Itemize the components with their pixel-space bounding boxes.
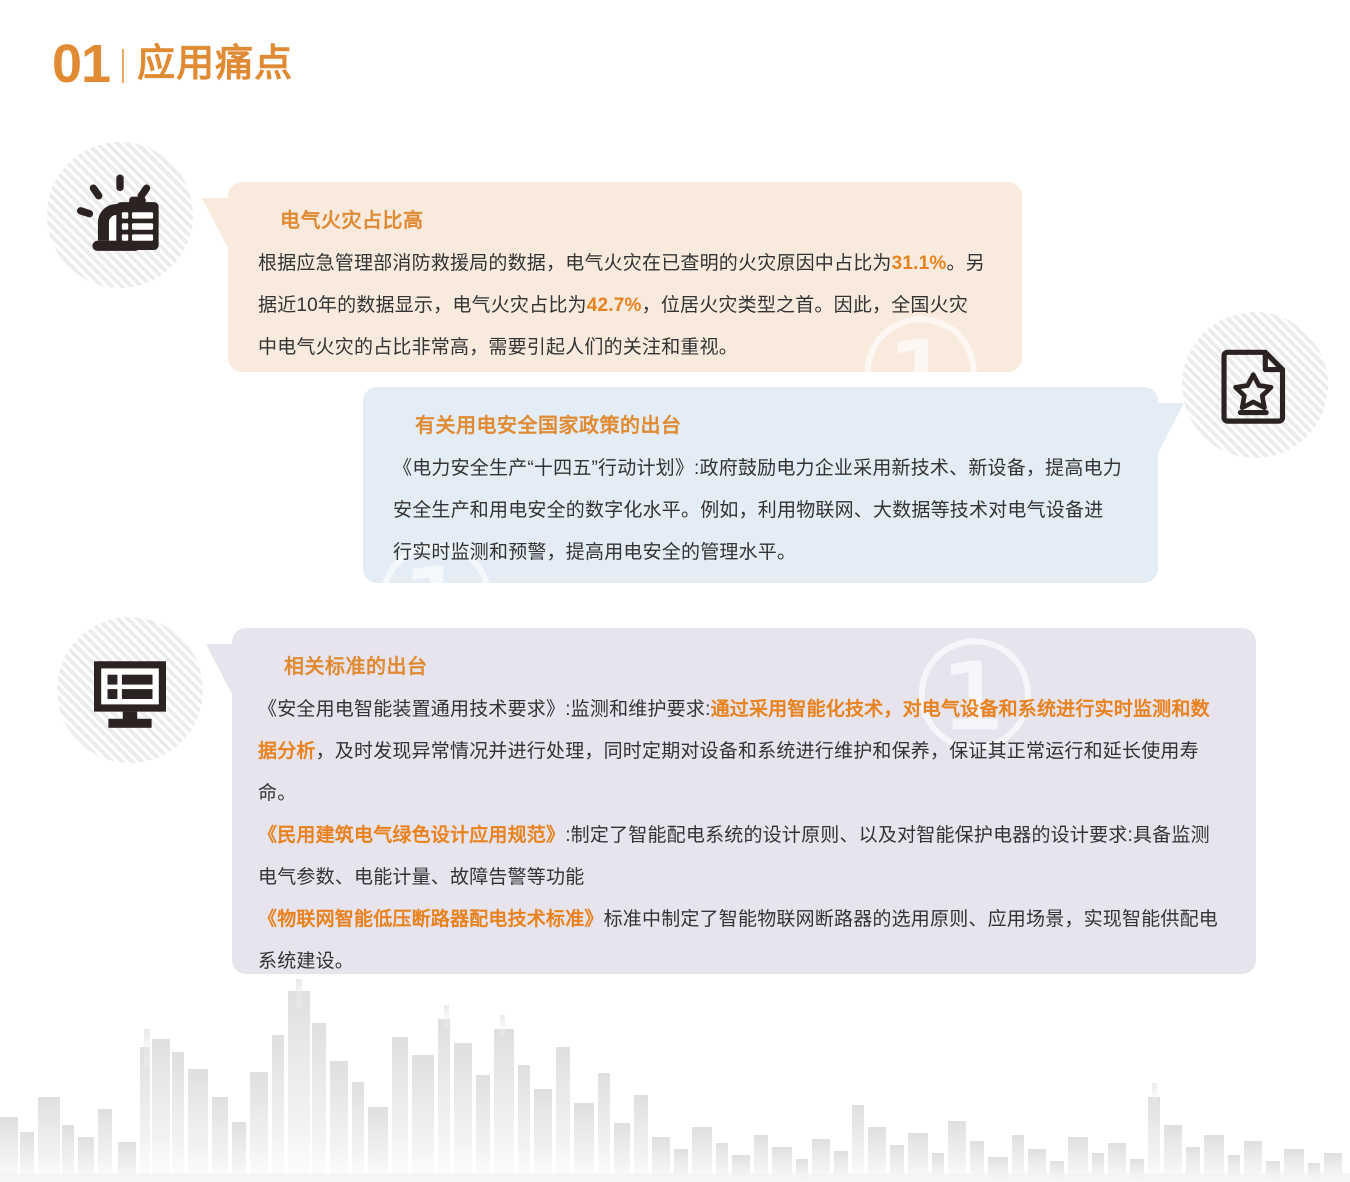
card-body-paragraph-1: 《安全用电智能装置通用技术要求》:监测和维护要求:通过采用智能化技术，对电气设备… <box>258 689 1222 815</box>
card-heading: 有关用电安全国家政策的出台 <box>415 409 1122 438</box>
body-text-segment: 《安全用电智能装置通用技术要求》:监测和维护要求: <box>258 699 711 720</box>
card-body: 《电力安全生产“十四五”行动计划》:政府鼓励电力企业采用新技术、新设备，提高电力… <box>393 448 1122 574</box>
card-body-paragraph-2: 《民用建筑电气绿色设计应用规范》:制定了智能配电系统的设计原则、以及对智能保护电… <box>258 815 1222 899</box>
bubble-tail-left <box>202 198 230 252</box>
monitor-list-icon <box>57 617 203 763</box>
stat-value-31: 31.1% <box>892 253 947 274</box>
bubble-tail-left <box>206 644 234 698</box>
section-title: 应用痛点 <box>137 45 293 83</box>
card-electrical-fire: ① 电气火灾占比高 根据应急管理部消防救援局的数据，电气火灾在已查明的火灾原因中… <box>228 182 1022 372</box>
bubble-tail-right <box>1156 403 1184 457</box>
slide-canvas: 01 应用痛点 <box>0 0 1350 1182</box>
body-text-segment: ，及时发现异常情况并进行处理，同时定期对设备和系统进行维护和保养，保证其正常运行… <box>258 741 1199 804</box>
city-skyline-watermark <box>0 977 1350 1182</box>
page-title: 01 应用痛点 <box>52 33 293 95</box>
standard-name-civil-building: 《民用建筑电气绿色设计应用规范》 <box>258 825 565 846</box>
card-national-policy: ① 有关用电安全国家政策的出台 《电力安全生产“十四五”行动计划》:政府鼓励电力… <box>363 387 1158 583</box>
card-related-standards: ① 相关标准的出台 《安全用电智能装置通用技术要求》:监测和维护要求:通过采用智… <box>232 628 1256 974</box>
card-heading: 相关标准的出台 <box>284 650 1222 679</box>
body-text-segment: 根据应急管理部消防救援局的数据，电气火灾在已查明的火灾原因中占比为 <box>258 253 892 274</box>
card-body: 根据应急管理部消防救援局的数据，电气火灾在已查明的火灾原因中占比为31.1%。另… <box>258 243 986 369</box>
title-divider <box>122 49 124 83</box>
certificate-document-icon <box>1182 312 1328 458</box>
card-heading: 电气火灾占比高 <box>280 204 986 233</box>
alarm-clipboard-icon <box>47 142 193 288</box>
card-body-paragraph-3: 《物联网智能低压断路器配电技术标准》标准中制定了智能物联网断路器的选用原则、应用… <box>258 899 1222 983</box>
section-number: 01 <box>52 37 110 91</box>
stat-value-42: 42.7% <box>587 295 642 316</box>
standard-name-iot-breaker: 《物联网智能低压断路器配电技术标准》 <box>258 909 604 930</box>
